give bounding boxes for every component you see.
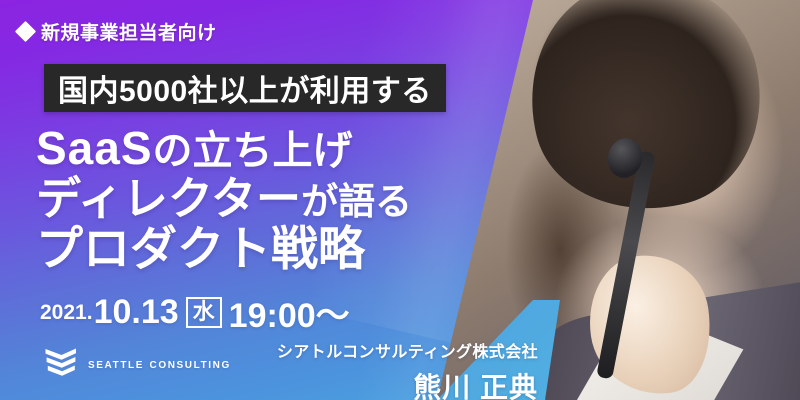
eyebrow-line: 新規事業担当者向け [18,18,217,45]
page-title: SaaSの立ち上げ ディレクターが語る プロダクト戦略 [36,124,412,274]
headline-line-2-main: ディレクター [36,173,301,224]
brand-logo-text: Seattle Consulting [88,355,231,371]
headline-brand: SaaS [36,122,153,174]
banner-content: 新規事業担当者向け 国内5000社以上が利用する SaaSの立ち上げ ディレクタ… [0,0,800,400]
event-weekday-badge: 水 [186,297,222,327]
event-date: 10.13 [94,293,179,332]
event-datetime: 2021. 10.13 水 19:00〜 [40,288,350,337]
headline-line-2-rest: が語る [301,181,412,222]
diamond-icon [15,21,36,42]
event-year: 2021. [40,301,93,325]
headline-line-1-rest: の立ち上げ [153,129,353,173]
triple-chevron-logo-icon [44,348,78,378]
event-time: 19:00〜 [229,288,350,337]
speaker-credit: シアトルコンサルティング株式会社 熊川 正典 [277,338,538,400]
eyebrow-label: 新規事業担当者向け [41,18,217,45]
headline-line-1: SaaSの立ち上げ [36,124,412,173]
speaker-company: シアトルコンサルティング株式会社 [277,338,538,362]
headline-line-2: ディレクターが語る [36,175,412,223]
status-badge: 国内5000社以上が利用する [44,64,446,112]
brand-logo: Seattle Consulting [44,348,231,378]
speaker-name: 熊川 正典 [277,366,538,400]
badge-label: 国内5000社以上が利用する [58,66,432,110]
webinar-banner: 新規事業担当者向け 国内5000社以上が利用する SaaSの立ち上げ ディレクタ… [0,0,800,400]
headline-line-3: プロダクト戦略 [36,224,412,274]
